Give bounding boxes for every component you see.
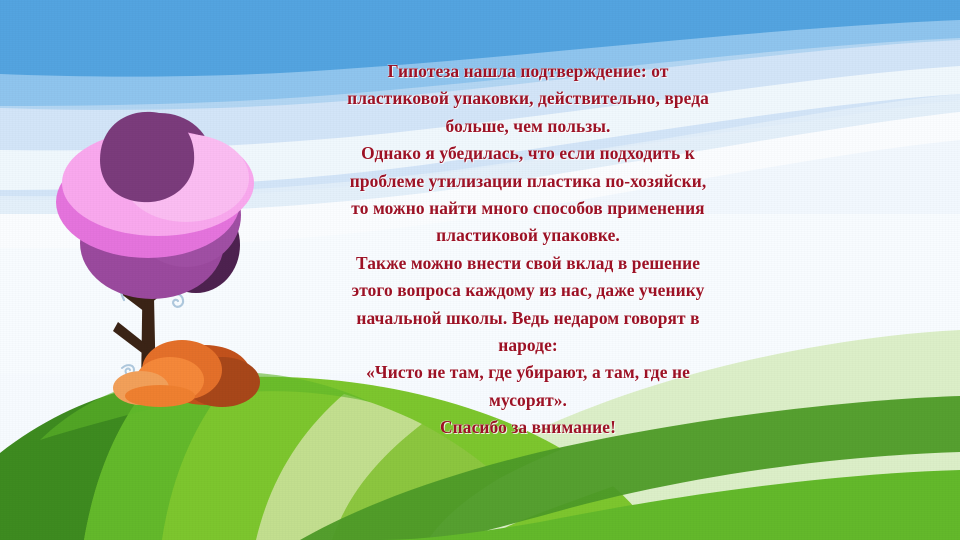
body-line-6: то можно найти много способов применения (318, 195, 738, 222)
body-line-8: Также можно внести свой вклад в решение (318, 250, 738, 277)
body-line-7: пластиковой упаковке. (318, 222, 738, 249)
body-line-12: «Чисто не там, где убирают, а там, где н… (318, 359, 738, 386)
body-line-5: проблеме утилизации пластика по-хозяйски… (318, 168, 738, 195)
slide-body-text: Гипотеза нашла подтверждение: от пластик… (318, 58, 738, 442)
body-line-13: мусорят». (318, 387, 738, 414)
body-line-1: Гипотеза нашла подтверждение: от (318, 58, 738, 85)
foliage-top-cap (100, 112, 194, 202)
body-line-14: Спасибо за внимание! (318, 414, 738, 441)
body-line-9: этого вопроса каждому из нас, даже учени… (318, 277, 738, 304)
body-line-2: пластиковой упаковки, действительно, вре… (318, 85, 738, 112)
body-line-3: больше, чем пользы. (318, 113, 738, 140)
body-line-4: Однако я убедилась, что если подходить к (318, 140, 738, 167)
body-line-10: начальной школы. Ведь недаром говорят в (318, 305, 738, 332)
bush-base (125, 385, 195, 407)
presentation-slide: Гипотеза нашла подтверждение: от пластик… (0, 0, 960, 540)
body-line-11: народе: (318, 332, 738, 359)
